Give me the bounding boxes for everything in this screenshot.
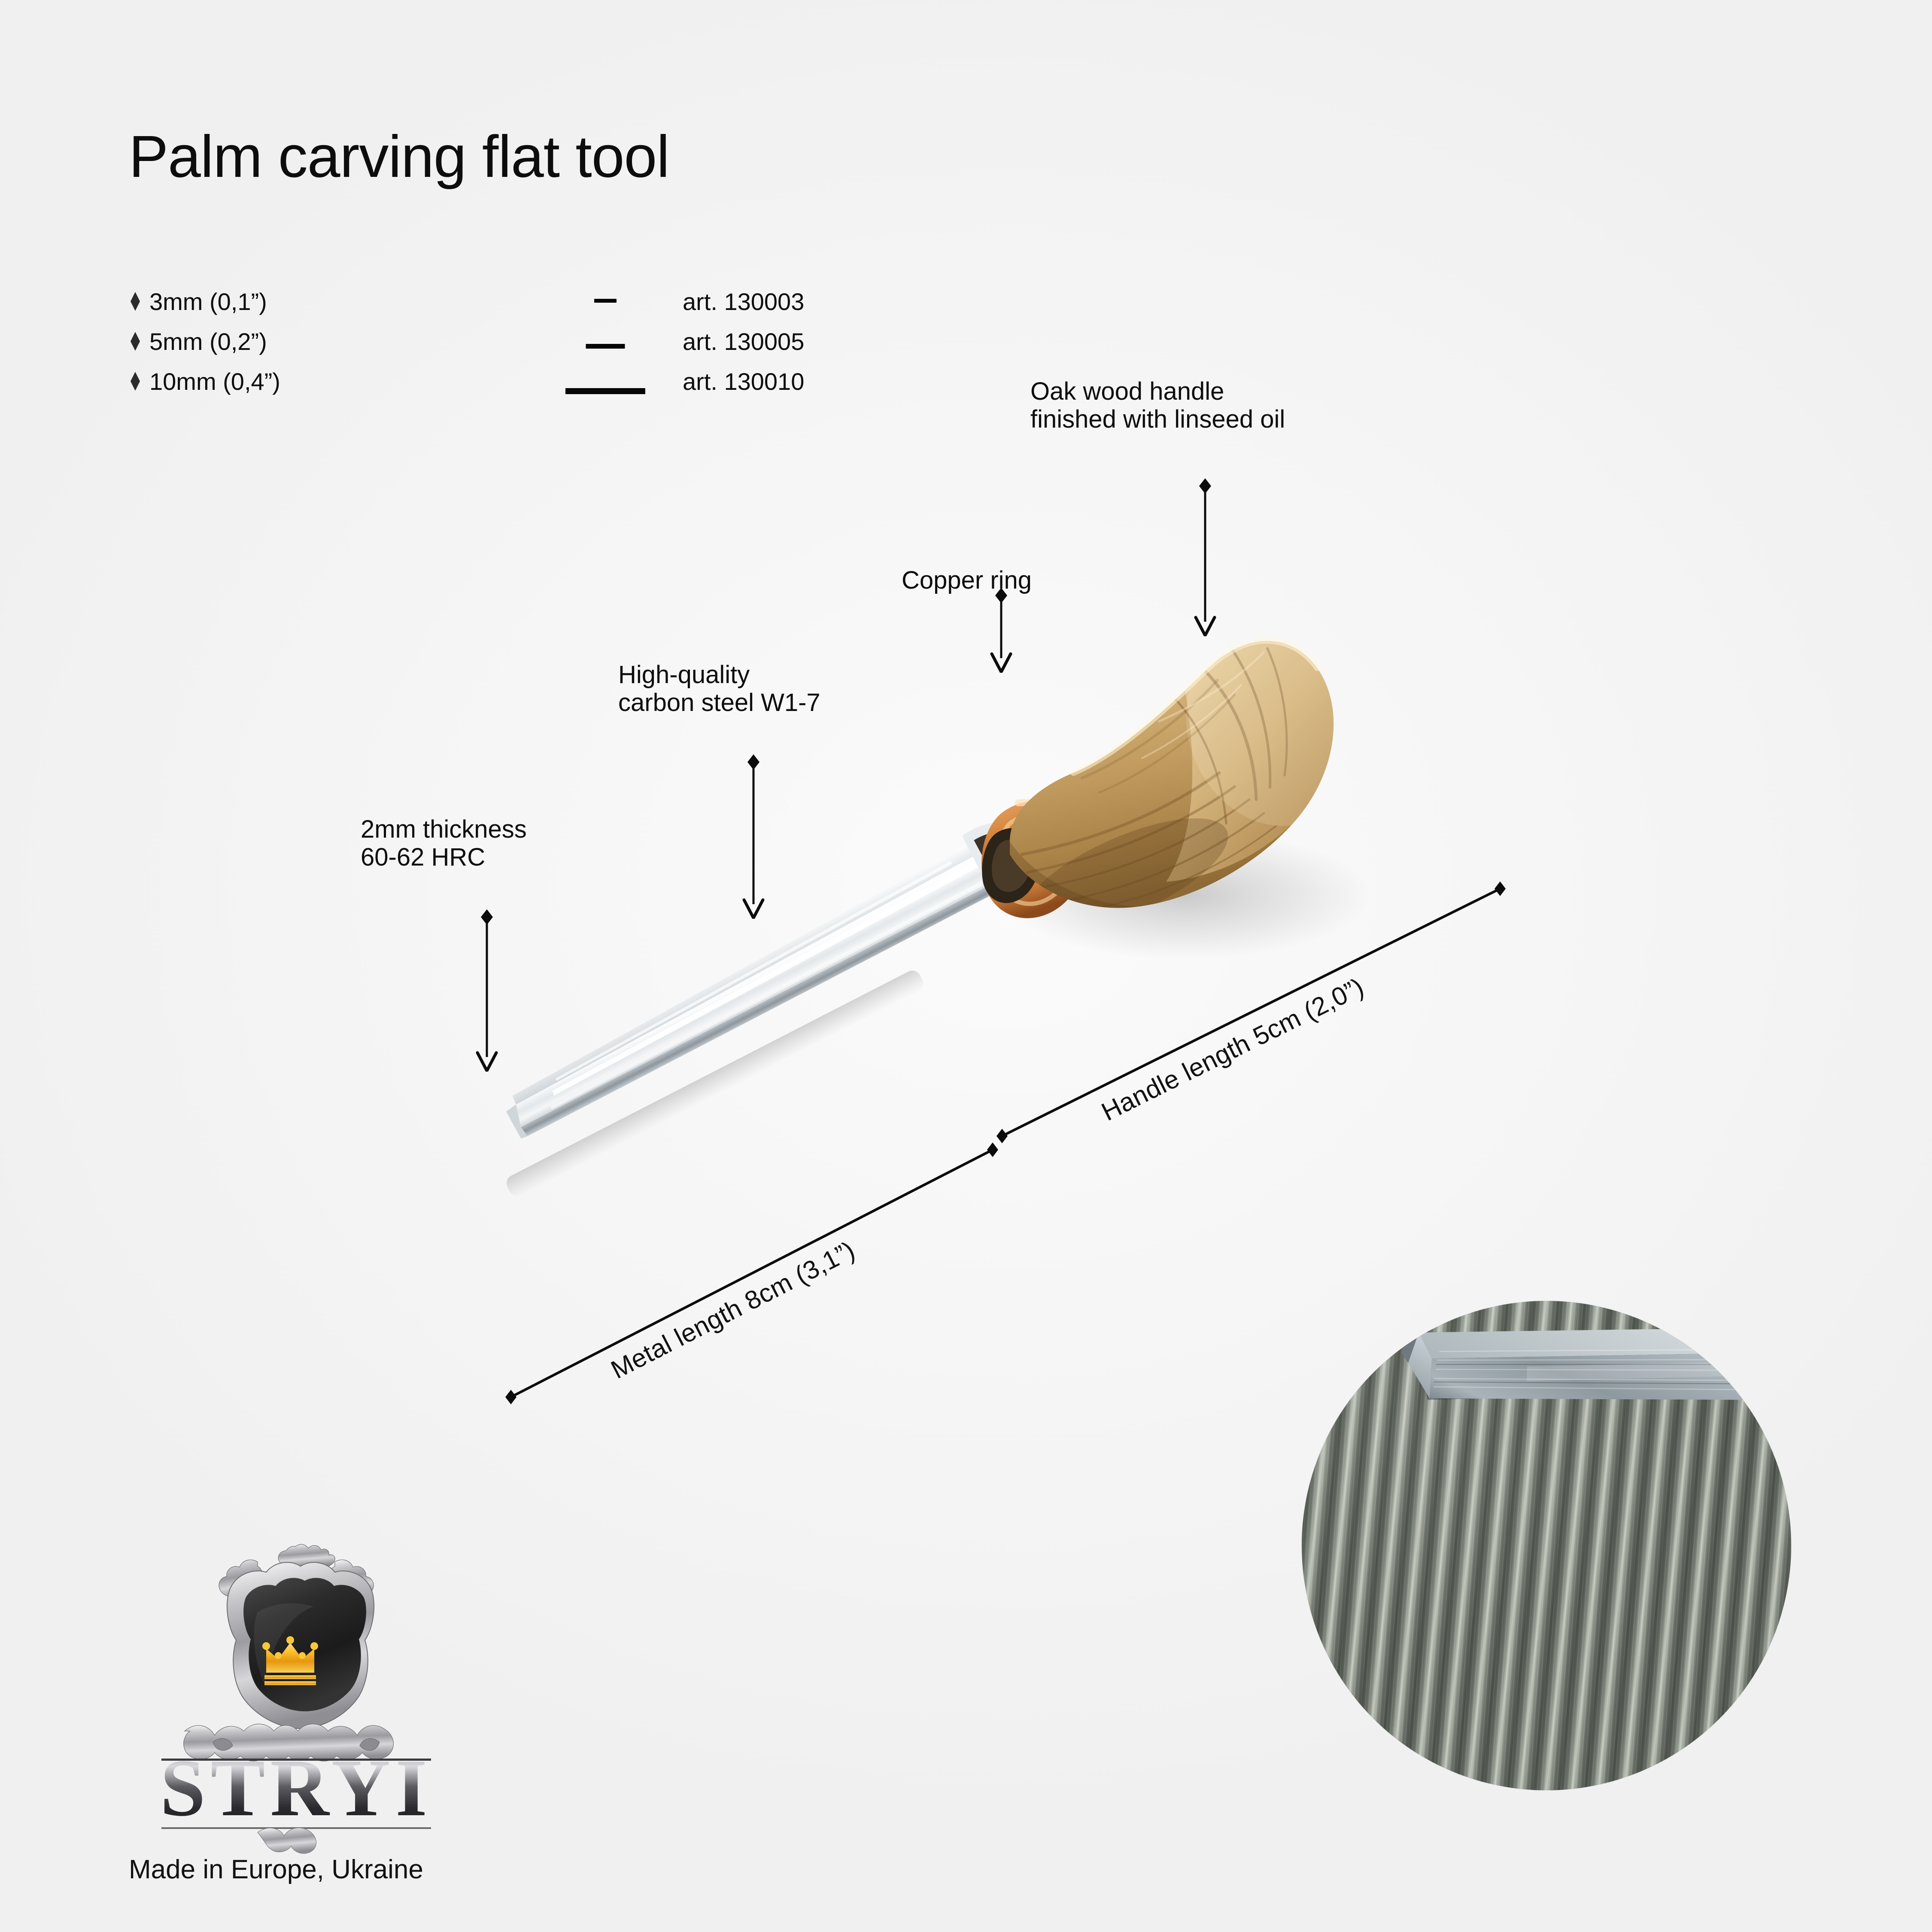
detail-inset-photo (1302, 1301, 1791, 1790)
brand-tagline: Made in Europe, Ukraine (129, 1854, 464, 1885)
infographic-canvas: Palm carving flat tool 3mm (0,1”) art. 1… (0, 0, 1932, 1932)
brand-logo: STRYI Made in Europe, Ukraine (129, 1537, 464, 1885)
brand-wordmark: STRYI (160, 1743, 432, 1833)
